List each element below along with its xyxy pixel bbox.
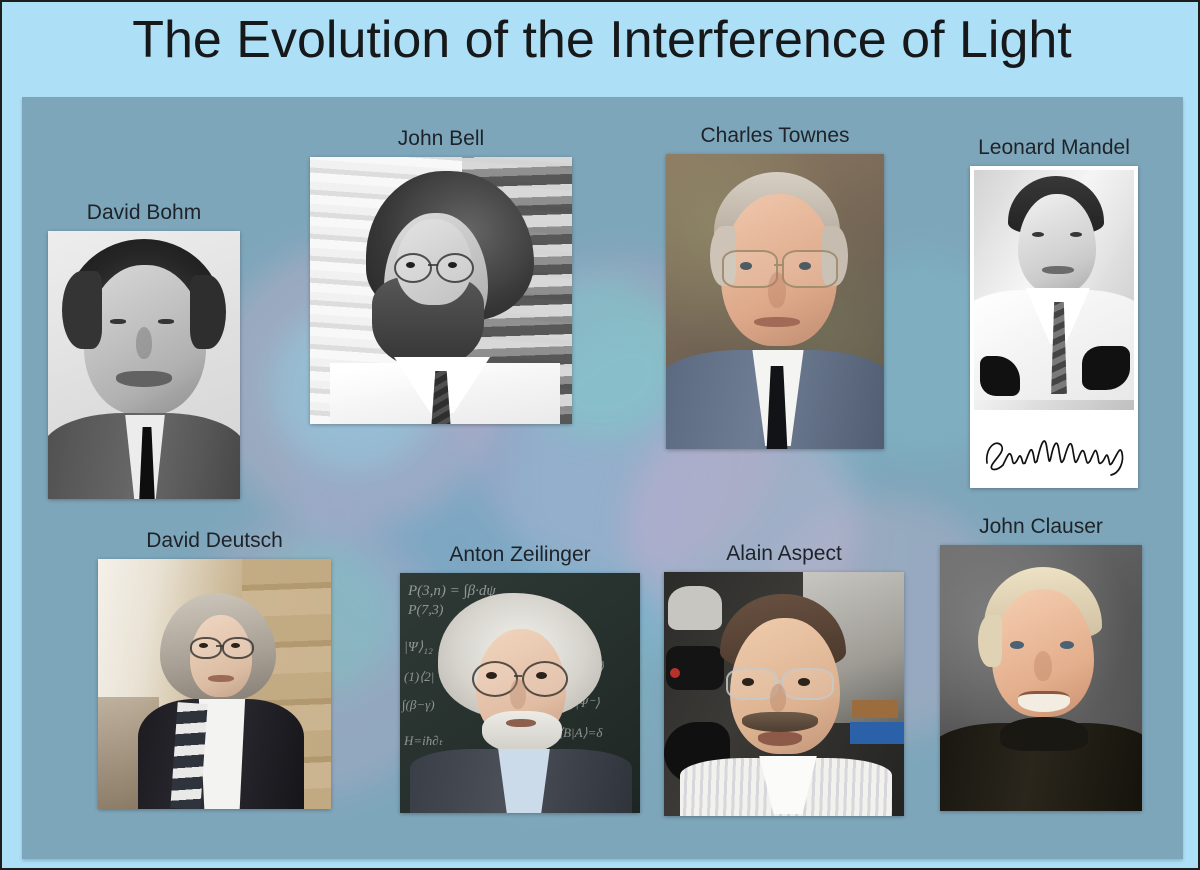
person-name-charles-townes: Charles Townes [700, 124, 849, 148]
person-photo-john-clauser [940, 545, 1142, 811]
person-photo-charles-townes [666, 154, 884, 449]
person-card-david-deutsch[interactable]: David Deutsch [98, 559, 331, 809]
person-card-john-clauser[interactable]: John Clauser [940, 545, 1142, 811]
person-photo-leonard-mandel [970, 166, 1138, 488]
person-card-john-bell[interactable]: John Bell [310, 157, 572, 424]
content-panel: David Bohm John Bell [22, 97, 1183, 859]
person-name-anton-zeilinger: Anton Zeilinger [449, 543, 590, 567]
person-name-john-clauser: John Clauser [979, 515, 1103, 539]
person-card-leonard-mandel[interactable]: Leonard Mandel [970, 166, 1138, 488]
person-name-david-deutsch: David Deutsch [146, 529, 283, 553]
person-card-anton-zeilinger[interactable]: Anton Zeilinger P(3,n) = ∫β·dψ P(7,3) |Ψ… [400, 573, 640, 813]
person-name-alain-aspect: Alain Aspect [726, 542, 842, 566]
person-card-alain-aspect[interactable]: Alain Aspect [664, 572, 904, 816]
slide: The Evolution of the Interference of Lig… [0, 0, 1200, 870]
person-card-david-bohm[interactable]: David Bohm [48, 231, 240, 499]
person-photo-john-bell [310, 157, 572, 424]
page-title: The Evolution of the Interference of Lig… [2, 10, 1200, 70]
signature [970, 414, 1138, 488]
person-photo-david-deutsch [98, 559, 331, 809]
person-photo-david-bohm [48, 231, 240, 499]
person-card-charles-townes[interactable]: Charles Townes [666, 154, 884, 449]
person-name-david-bohm: David Bohm [87, 201, 201, 225]
person-photo-anton-zeilinger: P(3,n) = ∫β·dψ P(7,3) |Ψ⟩₁₂ (1)⟨2| ∫(β−γ… [400, 573, 640, 813]
person-name-john-bell: John Bell [398, 127, 484, 151]
person-photo-alain-aspect [664, 572, 904, 816]
person-name-leonard-mandel: Leonard Mandel [978, 136, 1130, 160]
